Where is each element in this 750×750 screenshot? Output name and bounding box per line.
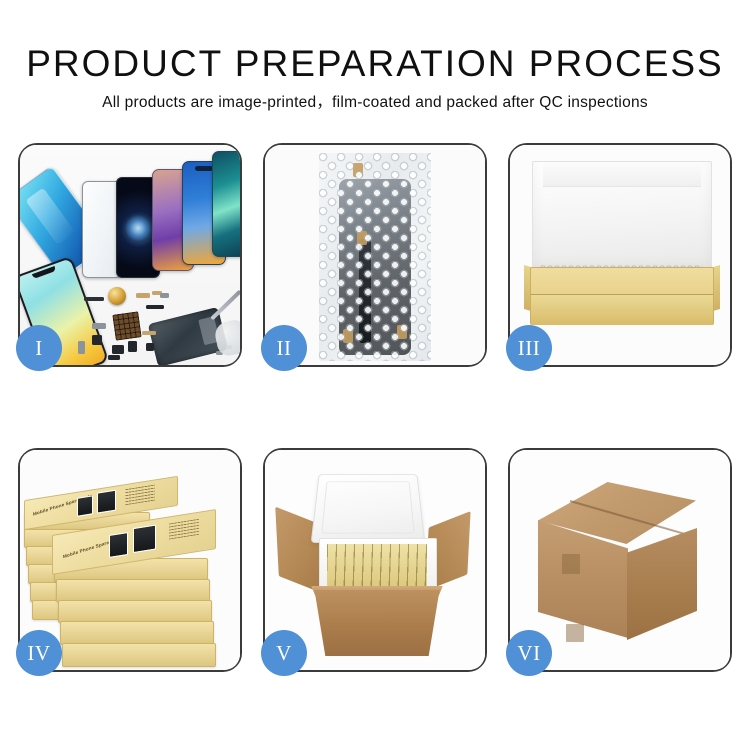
kraft-box-window-1 [77,495,93,517]
page-title: PRODUCT PREPARATION PROCESS [0,0,750,86]
process-panel-3: III [508,143,732,367]
spare-part-antenna [142,331,156,335]
spare-part-vibrator [146,343,154,351]
carton-body-image [309,590,445,656]
kraft-box-stack-item [62,643,216,667]
spare-part-speaker [112,345,124,354]
panel-6-step-badge: VI [506,630,552,676]
spare-part-sim-tray [78,341,85,354]
spare-part-flex-cable [146,305,164,309]
teal-gradient-phone-image [212,151,240,257]
carton-tape-patch-top [562,554,580,574]
kraft-box-window-2 [97,490,116,514]
kraft-boxes-inside-image [327,544,427,586]
process-panel-grid: I II [18,143,732,723]
kraft-box-stack-item [60,621,214,645]
panel-5-step-badge: V [261,630,307,676]
kraft-box-spec-lines-2 [169,519,199,540]
process-panel-1: I [18,143,242,367]
process-panel-2: II [263,143,487,367]
spare-part-clip [108,355,120,360]
gold-coil-part-image [108,287,126,305]
kraft-box-window-2 [133,525,156,554]
kraft-box-front-face [531,294,713,325]
kraft-box-stack-item [58,600,212,623]
spare-part-strip [84,297,104,301]
process-panel-5: V [263,448,487,672]
spare-part-camera [128,341,137,352]
bubble-wrap-bag-image [319,153,431,361]
kraft-box-window-1 [109,532,128,558]
panel-4-step-badge: IV [16,630,62,676]
carton-tape-patch-bottom [566,624,584,642]
styrofoam-lid-image [311,474,426,543]
kraft-mailer-box-image [530,267,714,325]
process-panel-4: Mobile Phone Spare Parts Mobile Phone Sp… [18,448,242,672]
chip-grid-part-image [112,311,141,340]
spare-part-module [92,335,102,345]
preparation-process-infographic: PRODUCT PREPARATION PROCESS All products… [0,0,750,750]
page-subtitle: All products are image-printed，film-coat… [0,86,750,113]
bubble-texture [319,153,431,361]
spare-part-bracket [92,323,106,329]
kraft-box-spec-lines-1 [125,484,155,505]
spare-part-shield [160,293,169,298]
panel-3-step-badge: III [506,325,552,371]
white-box-lid-image [532,161,712,275]
header: PRODUCT PREPARATION PROCESS All products… [0,0,750,113]
spare-part-tan-connector [136,293,150,298]
panel-2-step-badge: II [261,325,307,371]
process-panel-6: VI [508,448,732,672]
kraft-box-stack-item [56,579,210,602]
panel-1-step-badge: I [16,325,62,371]
